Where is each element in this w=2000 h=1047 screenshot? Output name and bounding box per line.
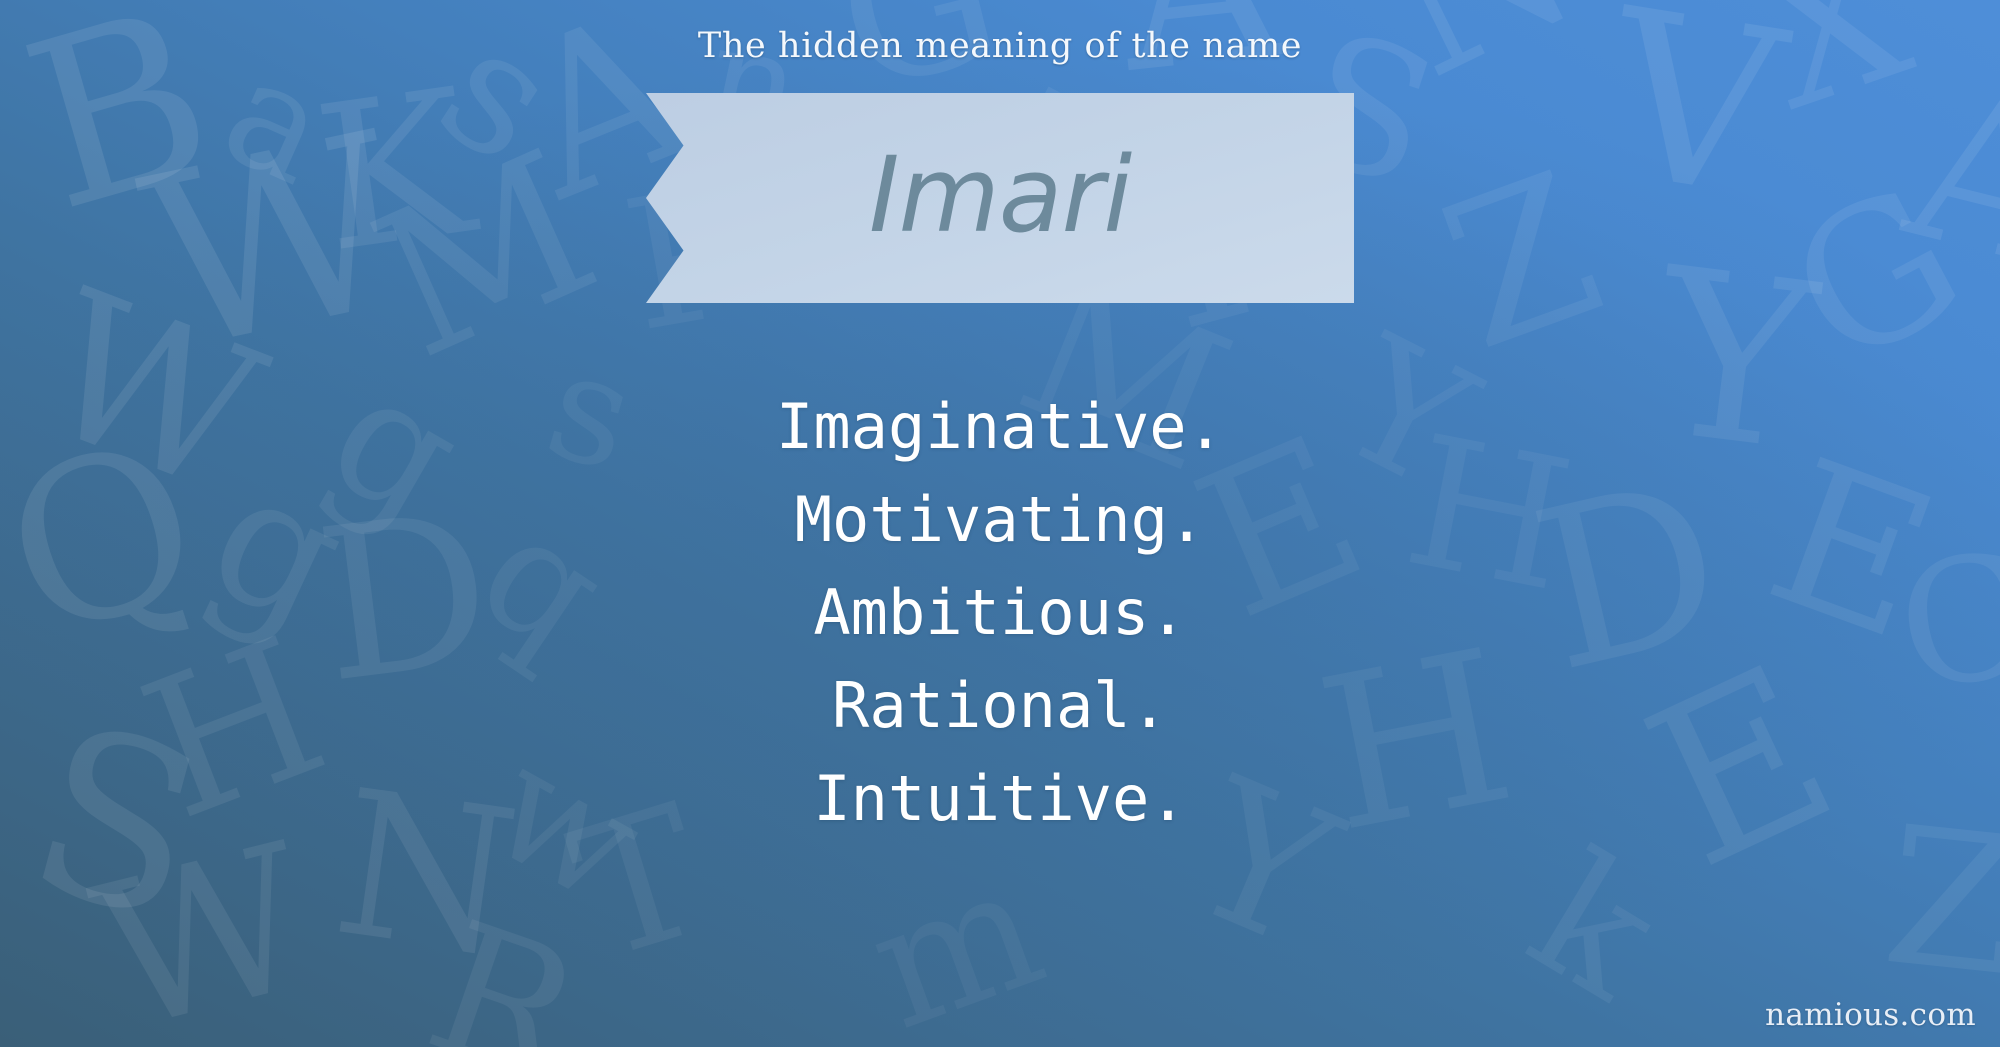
svg-text:W: W — [124, 81, 424, 406]
svg-text:Z: Z — [1417, 129, 1627, 395]
trait-item: Ambitious. — [0, 566, 2000, 659]
svg-text:G: G — [1757, 143, 1995, 409]
trait-item: Intuitive. — [0, 752, 2000, 845]
trait-item: Imaginative. — [0, 380, 2000, 473]
name-meaning-card: B a K s A n G y A S N V X A W W g M s P — [0, 0, 2000, 1047]
svg-text:K: K — [304, 46, 488, 298]
svg-text:R: R — [406, 883, 606, 1047]
site-watermark: namious.com — [1765, 997, 1976, 1033]
trait-list: Imaginative. Motivating. Ambitious. Rati… — [0, 380, 2000, 845]
svg-text:m: m — [846, 827, 1065, 1047]
svg-text:k: k — [1499, 815, 1691, 1039]
trait-item: Motivating. — [0, 473, 2000, 566]
name-banner: Imari — [646, 93, 1354, 303]
svg-text:A: A — [1886, 40, 2000, 315]
svg-text:X: X — [1733, 0, 1933, 153]
svg-text:M: M — [345, 108, 627, 404]
name-text: Imari — [646, 93, 1354, 303]
page-title: The hidden meaning of the name — [0, 26, 2000, 66]
trait-item: Rational. — [0, 659, 2000, 752]
